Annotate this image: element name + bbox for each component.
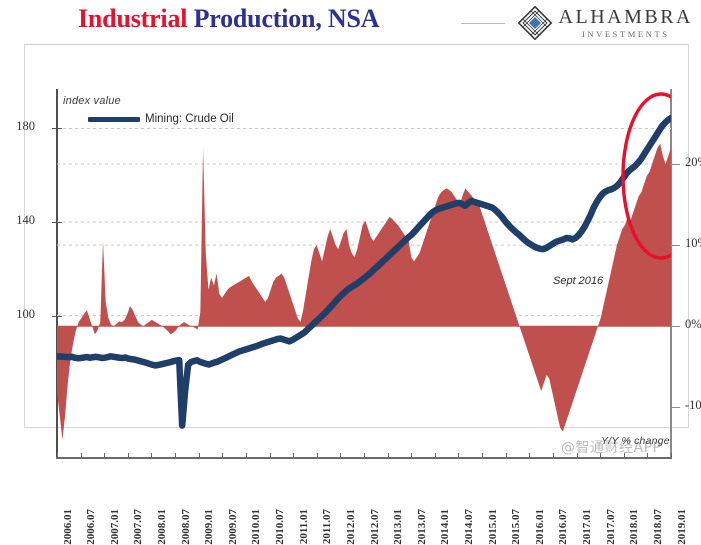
x-tick-label-2016.07: 2016.07 — [557, 509, 569, 545]
x-tick-label-2014.07: 2014.07 — [463, 509, 475, 545]
x-tick-label-2011.07: 2011.07 — [321, 509, 333, 544]
brand-text: ALHAMBRA INVESTMENTS — [559, 7, 693, 39]
x-tick-label-2007.07: 2007.07 — [132, 509, 144, 545]
x-tick-label-2016.01: 2016.01 — [534, 509, 546, 545]
x-tickmark — [151, 453, 152, 459]
x-tick-label-2009.01: 2009.01 — [203, 509, 215, 545]
chart-canvas — [57, 91, 671, 456]
x-tick-label-2017.01: 2017.01 — [581, 509, 593, 545]
y-tick-right-20pct: 20% — [685, 155, 701, 170]
x-tick-label-2018.07: 2018.07 — [652, 509, 664, 545]
x-tickmark — [199, 453, 200, 459]
title-word-industrial: Industrial — [78, 4, 187, 33]
x-tick-label-2011.01: 2011.01 — [298, 509, 310, 544]
y-tick-right-10pct: 10% — [685, 236, 701, 251]
title-rest: Production, NSA — [187, 4, 379, 33]
x-tickmark — [482, 453, 483, 459]
x-tick-label-2019.01: 2019.01 — [676, 509, 688, 545]
y-tickmark-left-140 — [52, 222, 62, 223]
plot-area — [57, 91, 671, 456]
x-tick-label-2015.07: 2015.07 — [510, 509, 522, 545]
x-tickmark — [435, 453, 436, 459]
x-tickmark — [81, 453, 82, 459]
chart-frame: index value Y/Y % change Sept 2016 Minin… — [24, 44, 689, 428]
x-tickmark — [104, 453, 105, 459]
y-tick-left-100: 100 — [16, 307, 35, 322]
x-tickmark — [411, 453, 412, 459]
page-title: Industrial Production, NSA — [78, 4, 379, 34]
x-tick-label-2006.01: 2006.01 — [62, 509, 74, 545]
x-tick-label-2008.01: 2008.01 — [156, 509, 168, 545]
x-tickmark — [458, 453, 459, 459]
y-tickmark-right-0 — [670, 407, 680, 408]
x-tick-label-2013.01: 2013.01 — [392, 509, 404, 545]
y-tickmark-right-1 — [670, 326, 680, 327]
brand-tagline: INVESTMENTS — [582, 30, 670, 39]
watermark: @智通财经APP — [561, 437, 661, 457]
x-tickmark — [246, 453, 247, 459]
x-tick-label-2014.01: 2014.01 — [439, 509, 451, 545]
y-tickmark-right-2 — [670, 245, 680, 246]
brand-logo: ALHAMBRA INVESTMENTS — [518, 2, 693, 44]
chart-screenshot: Industrial Production, NSA — [0, 0, 701, 468]
diamond-lattice-logo-icon — [518, 6, 552, 40]
chart-header: Industrial Production, NSA — [0, 0, 701, 44]
x-tickmark — [57, 453, 58, 459]
y-tick-right-neg10pct: -10% — [685, 398, 701, 413]
y-tickmark-left-100 — [52, 316, 62, 317]
x-tickmark — [671, 453, 672, 459]
x-tickmark — [293, 453, 294, 459]
x-tick-label-2009.07: 2009.07 — [227, 509, 239, 545]
y-tickmark-left-180 — [52, 128, 62, 129]
area-series-yy-change — [57, 144, 671, 440]
x-axis-ticks: 2006.012006.072007.012007.072008.012008.… — [57, 459, 671, 513]
y-tick-left-140: 140 — [16, 213, 35, 228]
x-tick-label-2012.01: 2012.01 — [345, 509, 357, 545]
x-tick-label-2017.07: 2017.07 — [605, 509, 617, 545]
x-tickmark — [270, 453, 271, 459]
brand-divider-rule — [461, 23, 505, 24]
y-tick-right-0pct: 0% — [685, 317, 701, 332]
x-tick-label-2010.01: 2010.01 — [250, 509, 262, 545]
x-tick-label-2006.07: 2006.07 — [85, 509, 97, 545]
x-tickmark — [529, 453, 530, 459]
x-tick-label-2015.01: 2015.01 — [487, 509, 499, 545]
x-tickmark — [364, 453, 365, 459]
y-tick-left-180: 180 — [16, 119, 35, 134]
x-tickmark — [175, 453, 176, 459]
x-tickmark — [506, 453, 507, 459]
x-tickmark — [128, 453, 129, 459]
x-tickmark — [553, 453, 554, 459]
x-tickmark — [340, 453, 341, 459]
x-tick-label-2018.01: 2018.01 — [628, 509, 640, 545]
x-tickmark — [222, 453, 223, 459]
y-tickmark-right-3 — [670, 164, 680, 165]
x-tick-label-2013.07: 2013.07 — [416, 509, 428, 545]
x-tick-label-2010.07: 2010.07 — [274, 509, 286, 545]
x-tickmark — [388, 453, 389, 459]
brand-name: ALHAMBRA — [559, 7, 693, 27]
x-tick-label-2008.07: 2008.07 — [180, 509, 192, 545]
x-tick-label-2007.01: 2007.01 — [109, 509, 121, 545]
x-tick-label-2012.07: 2012.07 — [369, 509, 381, 545]
x-tickmark — [317, 453, 318, 459]
